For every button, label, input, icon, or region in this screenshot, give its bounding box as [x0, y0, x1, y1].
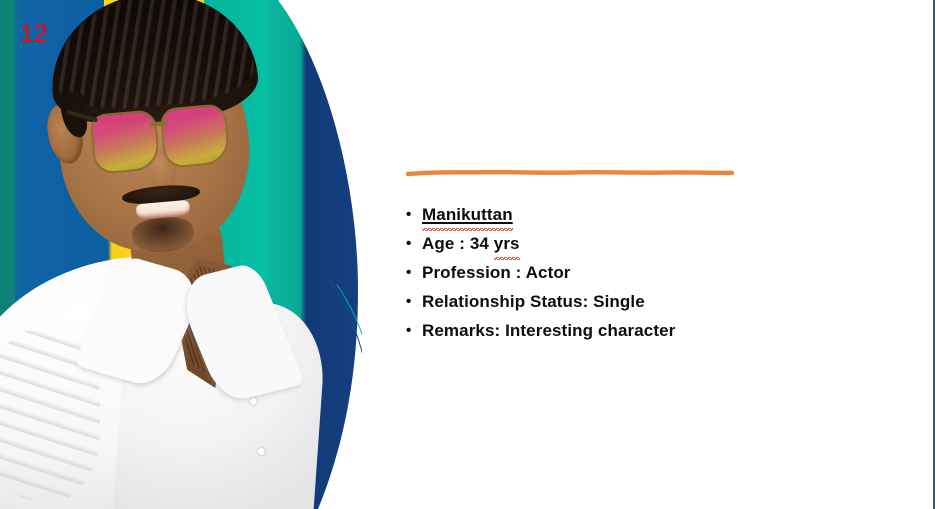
slide-image-region — [0, 0, 362, 509]
list-item-text-prefix: Age : 34 — [422, 234, 494, 253]
misspelled-word: yrs — [494, 229, 520, 258]
list-item[interactable]: • Remarks: Interesting character — [406, 316, 906, 345]
bullet-marker: • — [406, 287, 422, 316]
presentation-slide: 12 • Manikuttan • Age : 34 yrs • Profess… — [0, 0, 935, 509]
bullet-marker: • — [406, 229, 422, 258]
slide-content: • Manikuttan • Age : 34 yrs • Profession… — [406, 168, 906, 345]
list-item-label: Relationship Status: Single — [422, 287, 645, 316]
list-item-label: Age : 34 yrs — [422, 229, 520, 258]
orange-divider-line — [406, 168, 734, 178]
misspelled-word: Manikuttan — [422, 200, 513, 229]
slide-number: 12 — [20, 22, 48, 47]
list-item[interactable]: • Profession : Actor — [406, 258, 906, 287]
list-item-label: Profession : Actor — [422, 258, 571, 287]
list-item-label: Manikuttan — [422, 200, 513, 229]
bullet-list: • Manikuttan • Age : 34 yrs • Profession… — [406, 200, 906, 345]
list-item[interactable]: • Manikuttan — [406, 200, 906, 229]
bullet-marker: • — [406, 200, 422, 229]
bullet-marker: • — [406, 258, 422, 287]
list-item[interactable]: • Age : 34 yrs — [406, 229, 906, 258]
list-item-label: Remarks: Interesting character — [422, 316, 675, 345]
bullet-marker: • — [406, 316, 422, 345]
list-item[interactable]: • Relationship Status: Single — [406, 287, 906, 316]
